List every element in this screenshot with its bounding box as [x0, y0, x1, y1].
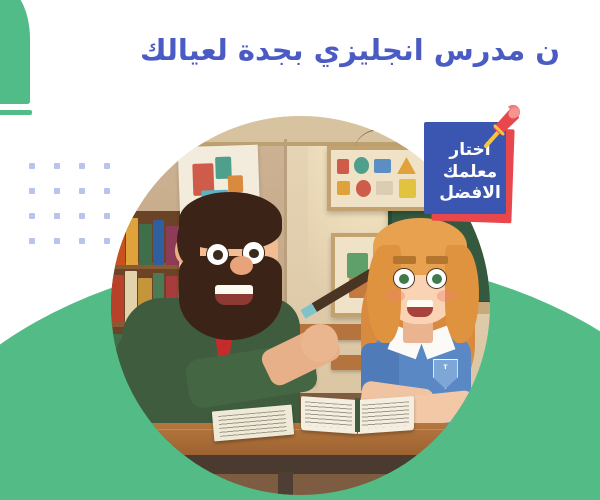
- student-eyebrow: [426, 256, 449, 264]
- front-desk-leg: [278, 472, 293, 495]
- teacher-eye: [206, 243, 229, 266]
- picture-nail: [378, 128, 382, 132]
- framed-alphabet-chart: [327, 146, 429, 210]
- student-eye: [393, 268, 414, 289]
- student-mouth: [407, 300, 434, 317]
- pushpin-icon: [480, 100, 524, 148]
- student-eyebrow: [393, 256, 416, 264]
- front-desk-edge: [111, 455, 490, 474]
- badge-line-2: معلمك: [443, 162, 497, 183]
- page-title: ن مدرس انجليزي بجدة لعيالك: [0, 33, 600, 67]
- teacher-mouth: [215, 285, 253, 306]
- student-cheek-blush: [386, 290, 405, 301]
- student-eye: [426, 268, 447, 289]
- badge-line-3: الافضل: [439, 183, 501, 204]
- crest-letter: T: [443, 364, 447, 371]
- banner-canvas: ن مدرس انجليزي بجدة لعيالك: [0, 0, 600, 500]
- open-book: [301, 398, 415, 432]
- teacher-eyebrow: [240, 225, 271, 236]
- teacher-hand: [301, 324, 339, 362]
- choose-best-teacher-badge[interactable]: اختار معلمك الافضل: [424, 122, 516, 222]
- student-cheek-blush: [437, 290, 456, 301]
- arch-logo-base: [0, 110, 32, 115]
